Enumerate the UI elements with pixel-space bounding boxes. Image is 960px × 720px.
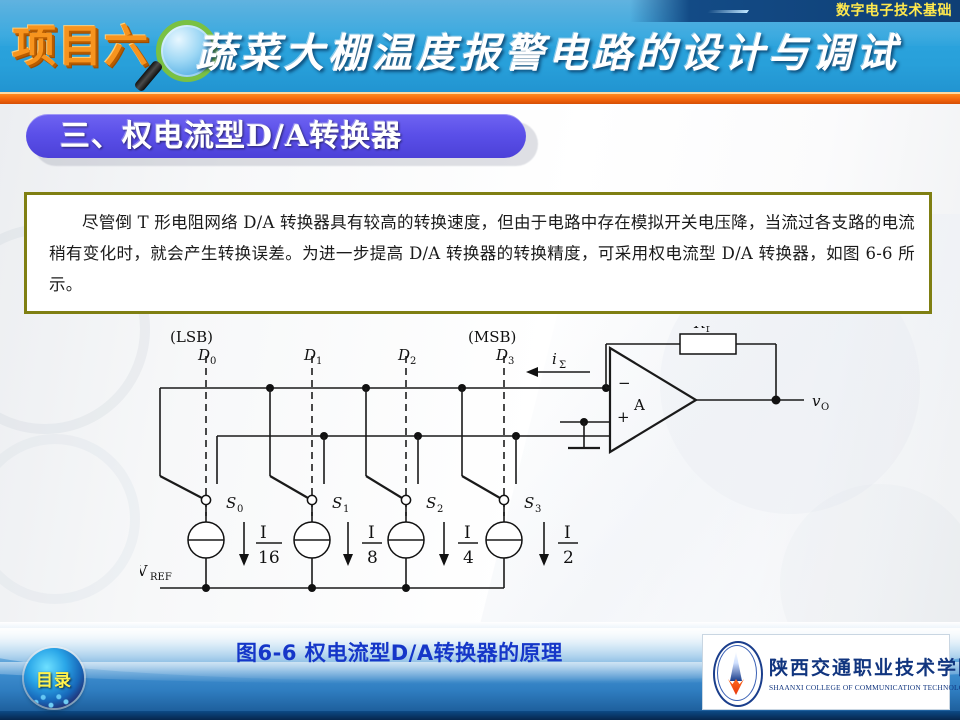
bit-label-d2: D	[397, 346, 410, 364]
switch-blade-s0	[160, 476, 202, 498]
section-title-banner: 三、权电流型D/A转换器	[26, 114, 538, 162]
slide-footer: 图6-6 权电流型D/A转换器的原理 目录 陕西交通职业技术学院 SHAANXI…	[0, 622, 960, 720]
current-num-3: I	[564, 523, 571, 543]
circuit-figure: .w{stroke:#1a1a1a;stroke-width:1.6;fill:…	[140, 326, 840, 622]
svg-text:3: 3	[535, 504, 541, 515]
institution-emblem-icon	[709, 639, 765, 705]
svg-text:O: O	[821, 402, 829, 413]
switch-label-s1: S	[332, 494, 342, 512]
svg-text:1: 1	[316, 356, 322, 367]
feedback-resistor-label: R	[693, 326, 705, 332]
current-den-0: 16	[258, 548, 280, 568]
svg-text:Σ: Σ	[559, 360, 566, 371]
gear-watermark-icon	[0, 434, 140, 604]
feedback-resistor	[680, 334, 736, 354]
switch-contact-s1	[307, 495, 316, 504]
switch-blade-s3	[462, 476, 500, 498]
institution-logo: 陕西交通职业技术学院 SHAANXI COLLEGE OF COMMUNICAT…	[702, 634, 950, 710]
current-den-2: 4	[463, 548, 474, 568]
course-badge: 数字电子技术基础	[836, 2, 952, 20]
switch-label-s0: S	[226, 494, 236, 512]
output-label: v	[812, 392, 821, 410]
current-den-3: 2	[563, 548, 574, 568]
header-accent-bar	[0, 94, 960, 104]
svg-text:2: 2	[410, 356, 416, 367]
opamp-label: A	[633, 396, 645, 414]
slide-root: 数字电子技术基础 项目六 蔬菜大棚温度报警电路的设计与调试 三、权电流型D/A转…	[0, 0, 960, 720]
institution-name-cn: 陕西交通职业技术学院	[769, 653, 960, 680]
svg-text:0: 0	[237, 504, 243, 515]
msb-label: (MSB)	[468, 328, 516, 346]
noninverting-input-sign: +	[617, 408, 630, 426]
content-paragraph: 尽管倒 T 形电阻网络 D/A 转换器具有较高的转换速度，但由于电路中存在模拟开…	[49, 207, 915, 300]
figure-caption: 图6-6 权电流型D/A转换器的原理	[236, 638, 563, 668]
current-den-1: 8	[367, 548, 378, 568]
footer-dark-strip	[0, 711, 960, 720]
svg-text:2: 2	[437, 504, 443, 515]
switch-contact-s2	[401, 495, 410, 504]
output-node	[772, 396, 781, 405]
bit-label-d1: D	[303, 346, 316, 364]
svg-text:REF: REF	[150, 572, 172, 583]
current-num-0: I	[260, 523, 267, 543]
content-textbox: 尽管倒 T 形电阻网络 D/A 转换器具有较高的转换速度，但由于电路中存在模拟开…	[24, 192, 932, 314]
lsb-label: (LSB)	[170, 328, 213, 346]
inverting-input-sign: −	[618, 374, 631, 392]
project-number: 项目六	[12, 16, 162, 82]
vref-label: −V	[140, 562, 149, 580]
section-title-text: 三、权电流型D/A转换器	[60, 116, 402, 158]
svg-text:0: 0	[210, 356, 216, 367]
bit-label-d3: D	[495, 346, 508, 364]
toc-button-label: 目录	[24, 666, 84, 691]
slide-header: 数字电子技术基础 项目六 蔬菜大棚温度报警电路的设计与调试	[0, 0, 960, 104]
circuit-diagram-svg: .w{stroke:#1a1a1a;stroke-width:1.6;fill:…	[140, 326, 840, 622]
page-title: 蔬菜大棚温度报警电路的设计与调试	[196, 26, 936, 84]
svg-text:1: 1	[343, 504, 349, 515]
header-badge-slash	[707, 10, 749, 13]
switch-contact-s3	[499, 495, 508, 504]
bit-label-d0: D	[197, 346, 210, 364]
svg-text:3: 3	[508, 356, 514, 367]
current-num-1: I	[368, 523, 375, 543]
switch-blade-s2	[366, 476, 402, 498]
switch-label-s3: S	[524, 494, 534, 512]
institution-logo-text: 陕西交通职业技术学院 SHAANXI COLLEGE OF COMMUNICAT…	[769, 653, 960, 692]
opamp-triangle	[610, 348, 696, 452]
current-num-2: I	[464, 523, 471, 543]
table-of-contents-button[interactable]: 目录	[24, 648, 84, 708]
institution-name-en: SHAANXI COLLEGE OF COMMUNICATION TECHNOL…	[769, 683, 960, 692]
switch-label-s2: S	[426, 494, 436, 512]
sum-current-label: i	[552, 350, 557, 368]
switch-blade-s1	[270, 476, 308, 498]
switch-contact-s0	[201, 495, 210, 504]
